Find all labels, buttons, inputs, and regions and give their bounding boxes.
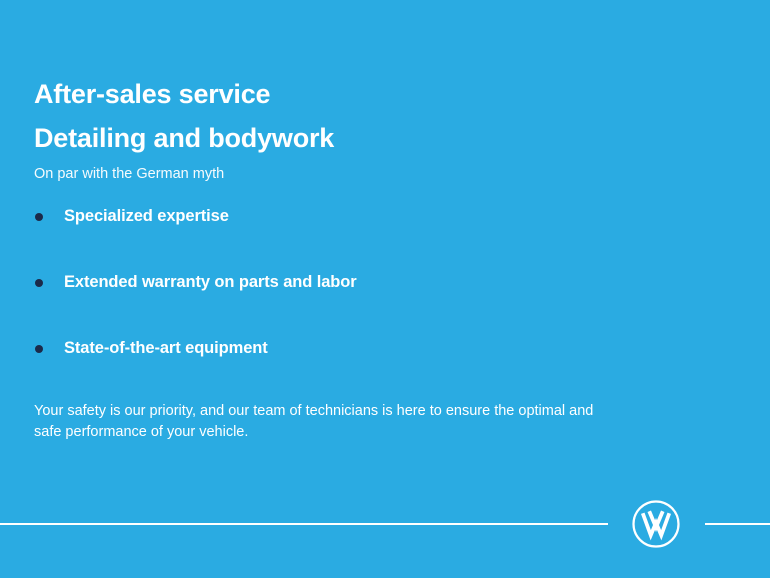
volkswagen-logo-icon — [631, 499, 681, 549]
footer-divider-left — [0, 523, 608, 525]
list-item: Specialized expertise — [34, 205, 734, 271]
heading-block: After-sales service Detailing and bodywo… — [34, 72, 734, 160]
list-item-label: State-of-the-art equipment — [64, 337, 268, 359]
list-item-label: Specialized expertise — [64, 205, 229, 227]
body-paragraph: Your safety is our priority, and our tea… — [34, 401, 604, 443]
subtitle: On par with the German myth — [34, 163, 224, 185]
list-item: State-of-the-art equipment — [34, 337, 734, 403]
page-title-line-2: Detailing and bodywork — [34, 116, 734, 160]
promotional-slide: After-sales service Detailing and bodywo… — [0, 0, 770, 578]
page-title-line-1: After-sales service — [34, 72, 734, 116]
bullet-dot-icon — [35, 345, 43, 353]
footer-divider-right — [705, 523, 770, 525]
bullet-dot-icon — [35, 213, 43, 221]
list-item-label: Extended warranty on parts and labor — [64, 271, 357, 293]
feature-list: Specialized expertise Extended warranty … — [34, 205, 734, 403]
list-item: Extended warranty on parts and labor — [34, 271, 734, 337]
bullet-dot-icon — [35, 279, 43, 287]
